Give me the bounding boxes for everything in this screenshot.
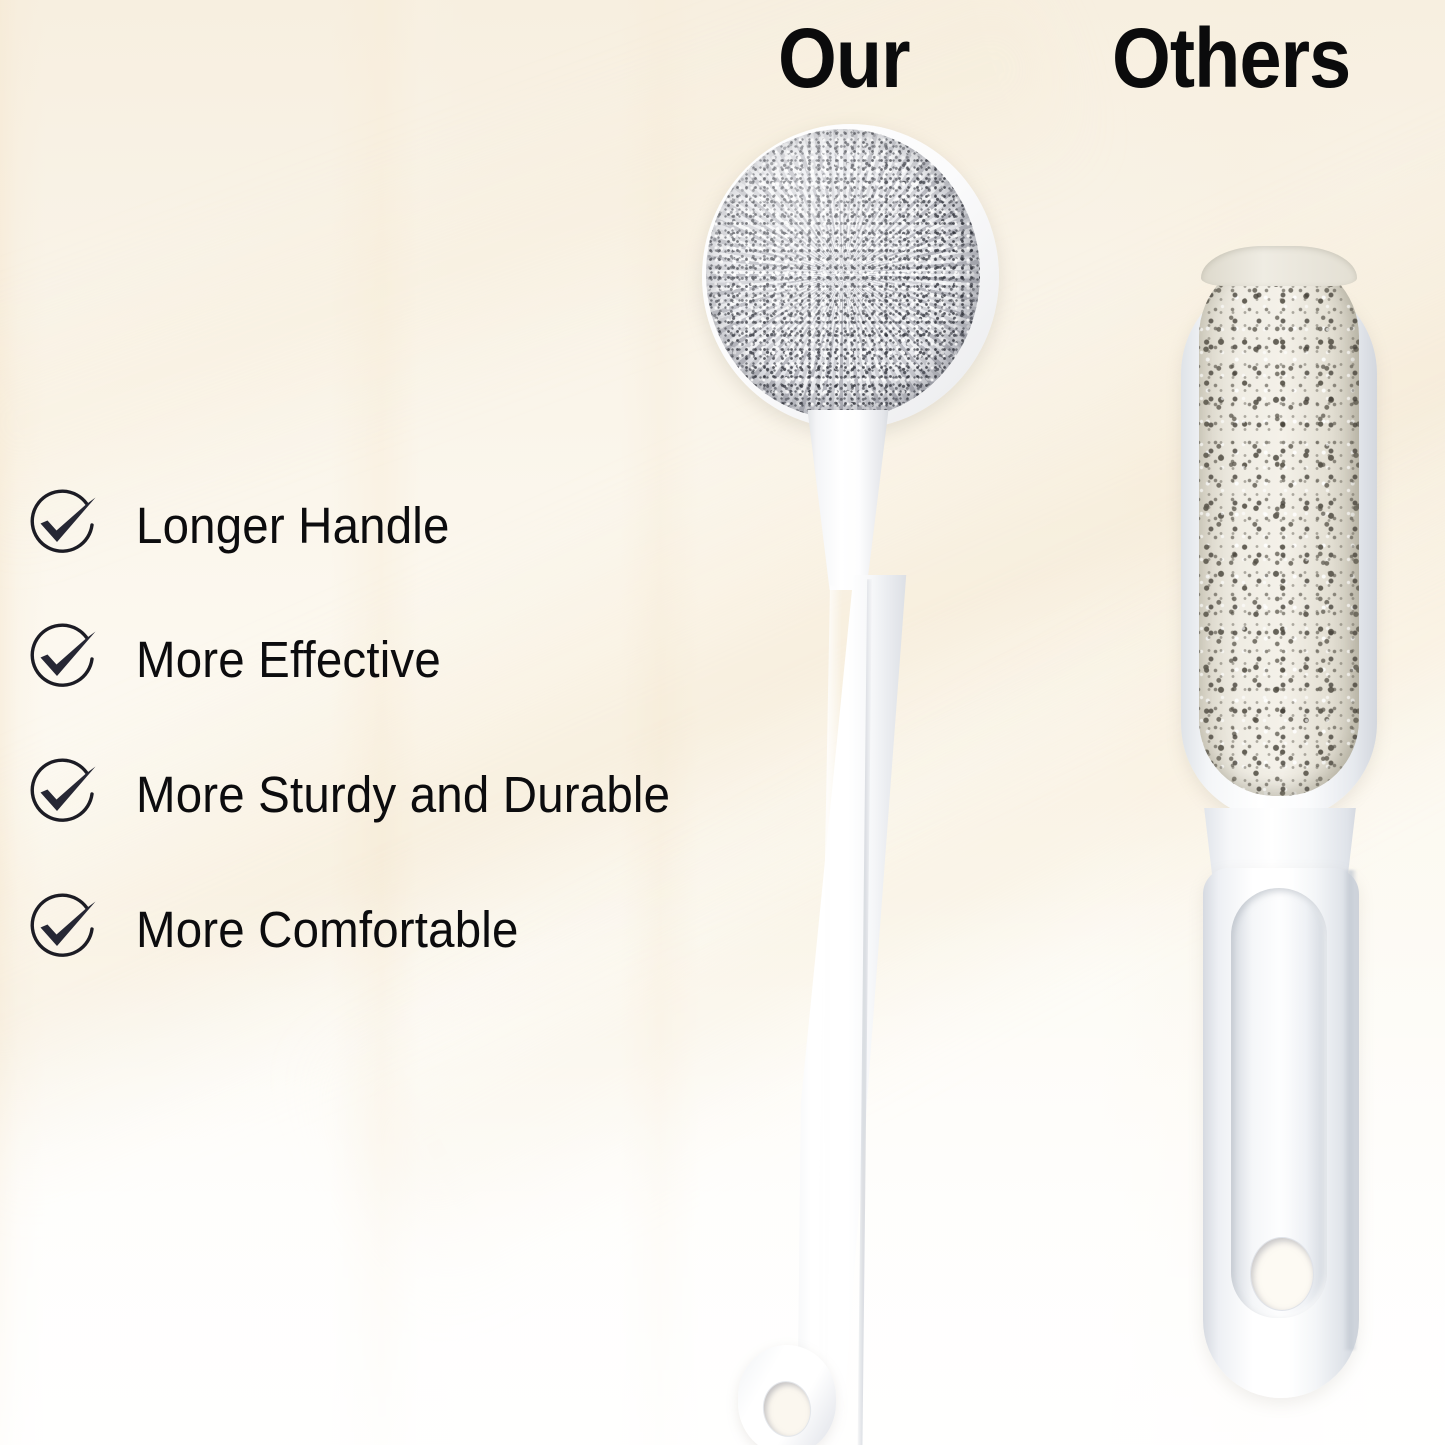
others-pumice-pores xyxy=(1199,256,1359,796)
others-pumice-top-edge xyxy=(1201,246,1357,286)
our-handle-body xyxy=(760,575,930,1445)
column-header-our: Our xyxy=(778,16,910,100)
feature-item-more-effective: More Effective xyxy=(26,616,464,702)
our-head-specks xyxy=(706,129,980,419)
check-circle-icon xyxy=(26,487,102,563)
our-handle xyxy=(760,575,930,1445)
feature-label: More Sturdy and Durable xyxy=(136,769,670,820)
check-circle-icon xyxy=(26,891,102,967)
column-header-others: Others xyxy=(1112,16,1350,100)
others-handle-edge xyxy=(1343,870,1357,1350)
product-image-others xyxy=(1175,248,1405,1398)
check-circle-icon xyxy=(26,756,102,832)
feature-item-more-comfortable: More Comfortable xyxy=(26,886,547,972)
our-pumice-head xyxy=(702,124,999,429)
comparison-infographic: Our Others Longer Handle More Effective xyxy=(0,0,1445,1445)
feature-label: Longer Handle xyxy=(136,500,450,551)
feature-label: More Effective xyxy=(136,634,441,685)
check-circle-icon xyxy=(26,621,102,697)
feature-item-longer-handle: Longer Handle xyxy=(26,482,473,568)
our-handle-neck xyxy=(802,410,894,590)
others-handle-hanging-hole xyxy=(1251,1238,1313,1310)
feature-label: More Comfortable xyxy=(136,904,519,955)
feature-item-more-sturdy-and-durable: More Sturdy and Durable xyxy=(26,751,710,837)
product-image-our xyxy=(690,120,1030,1445)
